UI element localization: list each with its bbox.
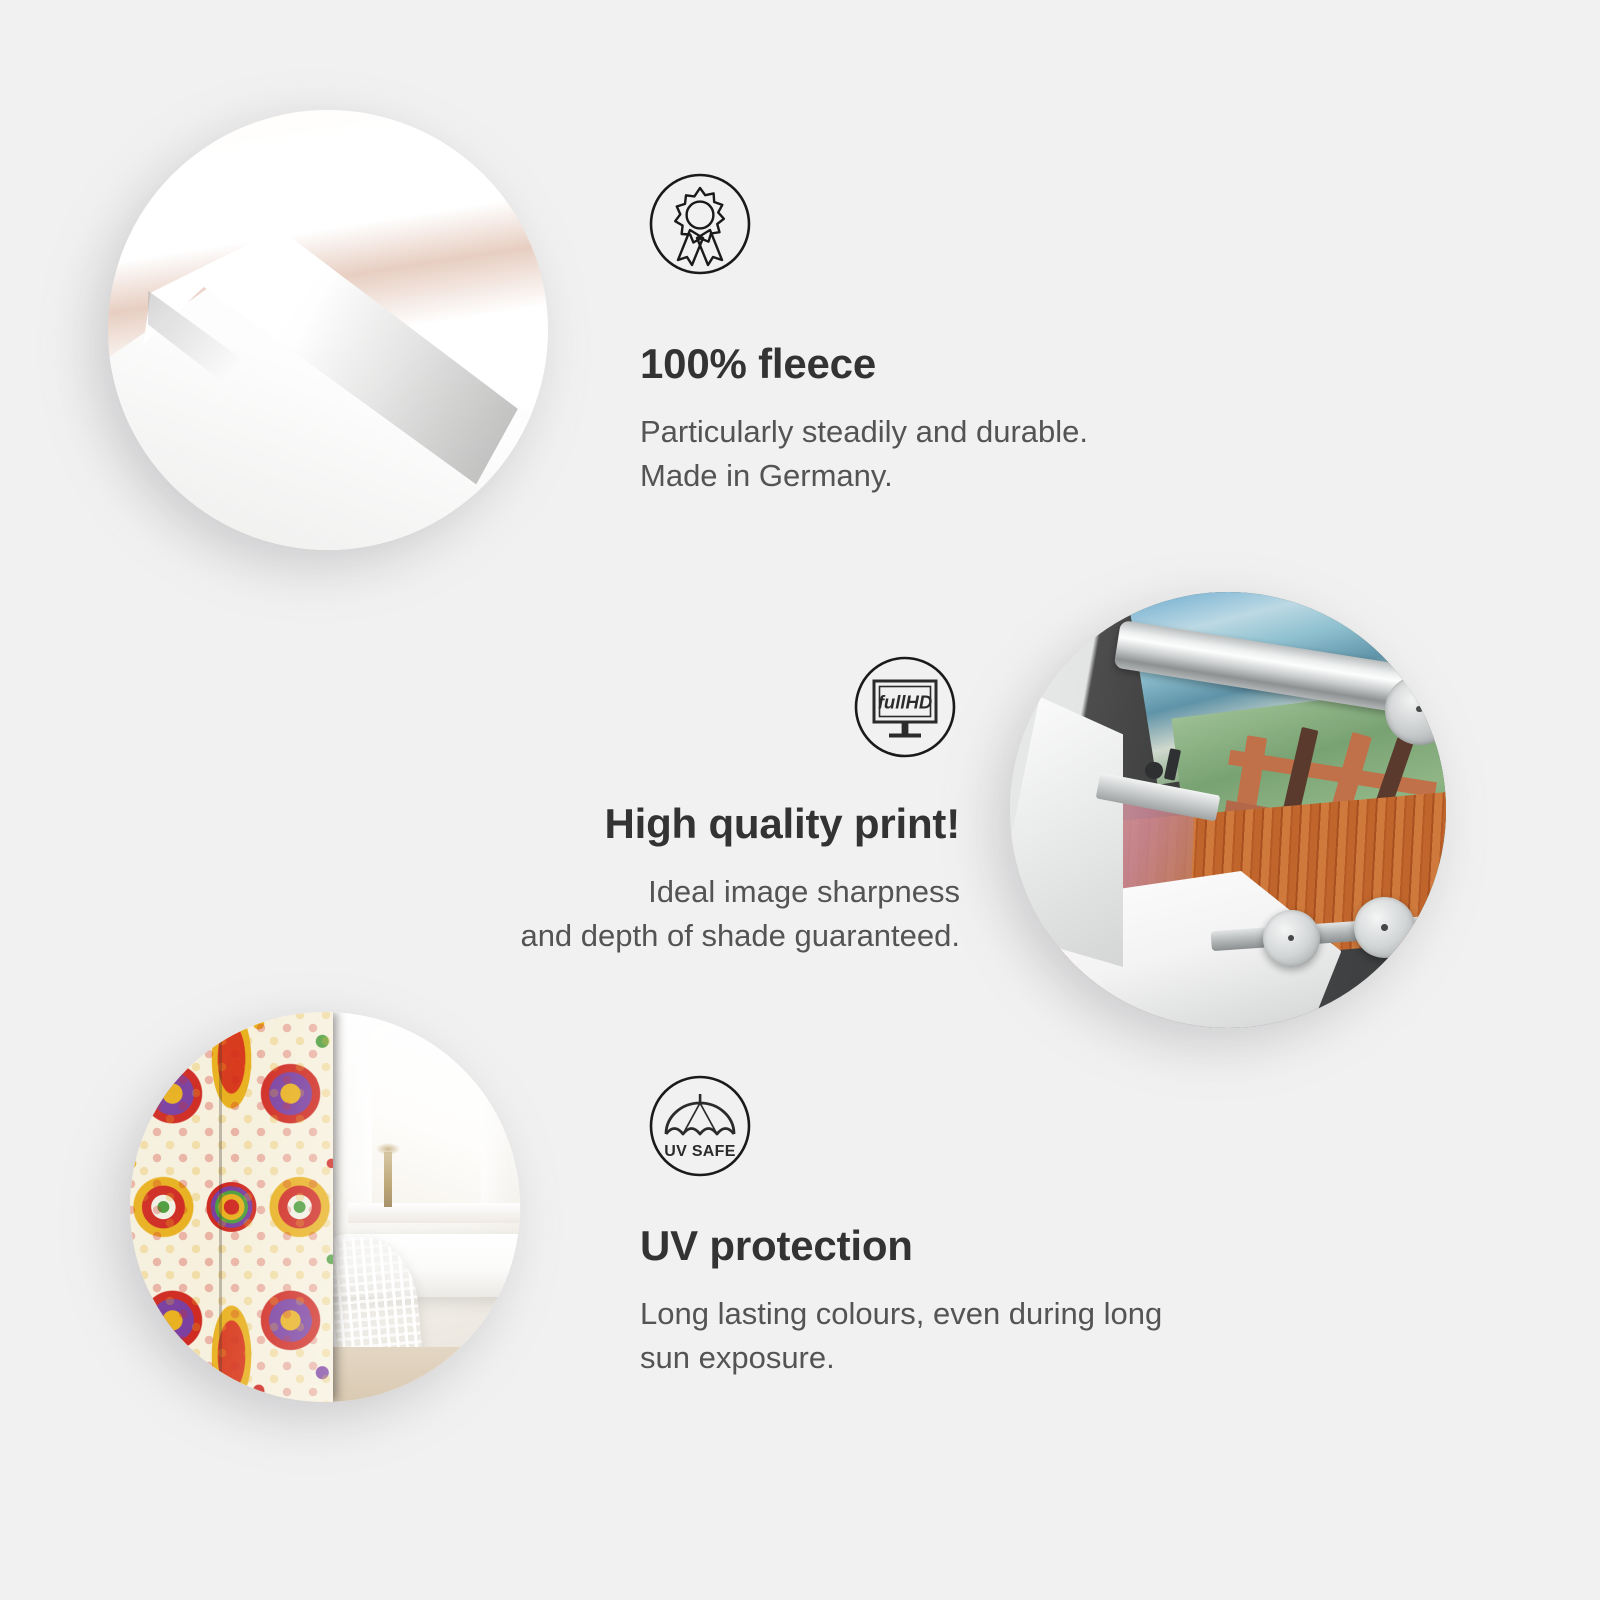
candlestick (384, 1152, 393, 1207)
uv-safe-icon-label: UV SAFE (664, 1143, 735, 1160)
uv-protection-text-block: UV protection Long lasting colours, even… (640, 1222, 1460, 1380)
feature-body-line: Particularly steadily and durable. (640, 410, 1400, 454)
wallpaper-light-sheen (130, 1012, 333, 1402)
print-quality-text-block: High quality print! Ideal image sharpnes… (160, 800, 960, 958)
award-ribbon-icon (648, 172, 752, 276)
feature-title: 100% fleece (640, 340, 1400, 388)
feature-infographic: 100% fleece Particularly steadily and du… (0, 0, 1600, 1600)
peeling-fleece-wallpaper-photo (108, 110, 548, 550)
feature-body-line: Ideal image sharpness (160, 870, 960, 914)
feature-title: UV protection (640, 1222, 1460, 1270)
printer-wheel (1263, 910, 1320, 967)
feature-body-line: Long lasting colours, even during long (640, 1292, 1460, 1336)
feature-title: High quality print! (160, 800, 960, 848)
printer-roller-end-cap (1385, 675, 1446, 745)
feature-body: Ideal image sharpness and depth of shade… (160, 870, 960, 958)
printer-scene (1010, 592, 1446, 1028)
uv-safe-umbrella-icon: UV SAFE (648, 1074, 752, 1178)
feature-body-line: sun exposure. (640, 1336, 1460, 1380)
large-format-printer-photo (1010, 592, 1446, 1028)
window-sill (348, 1203, 520, 1223)
fullhd-icon-label: fullHD (878, 692, 932, 713)
mandala-wallpaper-panel (130, 1012, 333, 1402)
feature-body: Particularly steadily and durable. Made … (640, 410, 1400, 498)
feature-body-line: and depth of shade guaranteed. (160, 914, 960, 958)
fullhd-monitor-icon: fullHD (853, 655, 957, 759)
mandala-wallpaper-interior-photo (130, 1012, 520, 1402)
interior-scene (130, 1012, 520, 1402)
feature-body: Long lasting colours, even during long s… (640, 1292, 1460, 1380)
feature-body-line: Made in Germany. (640, 454, 1400, 498)
printer-knob (1145, 762, 1162, 779)
fleece-text-block: 100% fleece Particularly steadily and du… (640, 340, 1400, 498)
